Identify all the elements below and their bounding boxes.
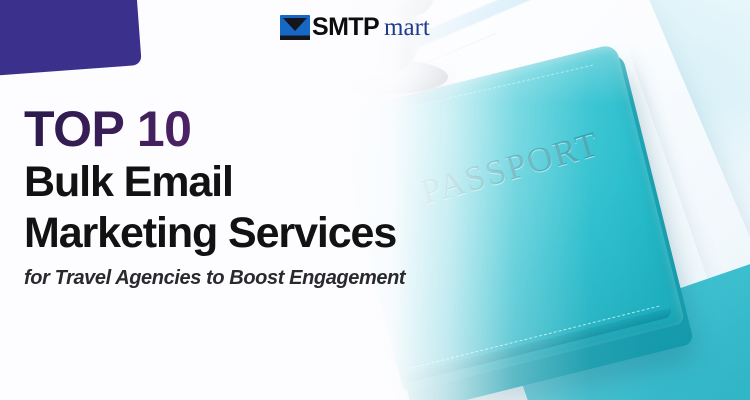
logo-secondary-text: mart [384,15,430,40]
headline-subtitle: for Travel Agencies to Boost Engagement [24,267,405,290]
smtpmart-logo[interactable]: SMTP mart [280,15,430,40]
headline-line-2: Marketing Services [24,210,405,257]
headline-block: TOP 10 Bulk Email Marketing Services for… [24,104,405,290]
corner-accent-shape [0,0,142,78]
logo-primary-text: SMTP [312,15,379,40]
envelope-icon [280,15,310,40]
headline-line-1: Bulk Email [24,159,405,206]
eyebrow-top10: TOP 10 [24,104,405,155]
promo-banner: Given Names Date of birth Nation or plac… [0,0,750,400]
